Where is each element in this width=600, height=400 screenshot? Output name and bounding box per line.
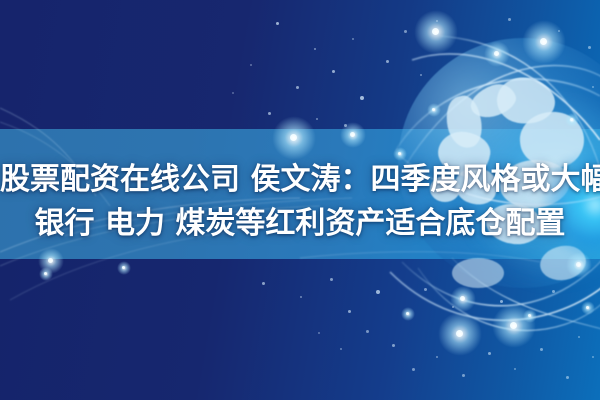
headline: 股票配资在线公司 侯文涛：四季度风格或大幅切换 银行 电力 煤炭等红利资产适合底…: [0, 158, 600, 246]
banner-image: 股票配资在线公司 侯文涛：四季度风格或大幅切换 银行 电力 煤炭等红利资产适合底…: [0, 0, 600, 400]
headline-line-1: 股票配资在线公司 侯文涛：四季度风格或大幅切换: [0, 158, 600, 202]
headline-line-2: 银行 电力 煤炭等红利资产适合底仓配置: [0, 202, 600, 246]
